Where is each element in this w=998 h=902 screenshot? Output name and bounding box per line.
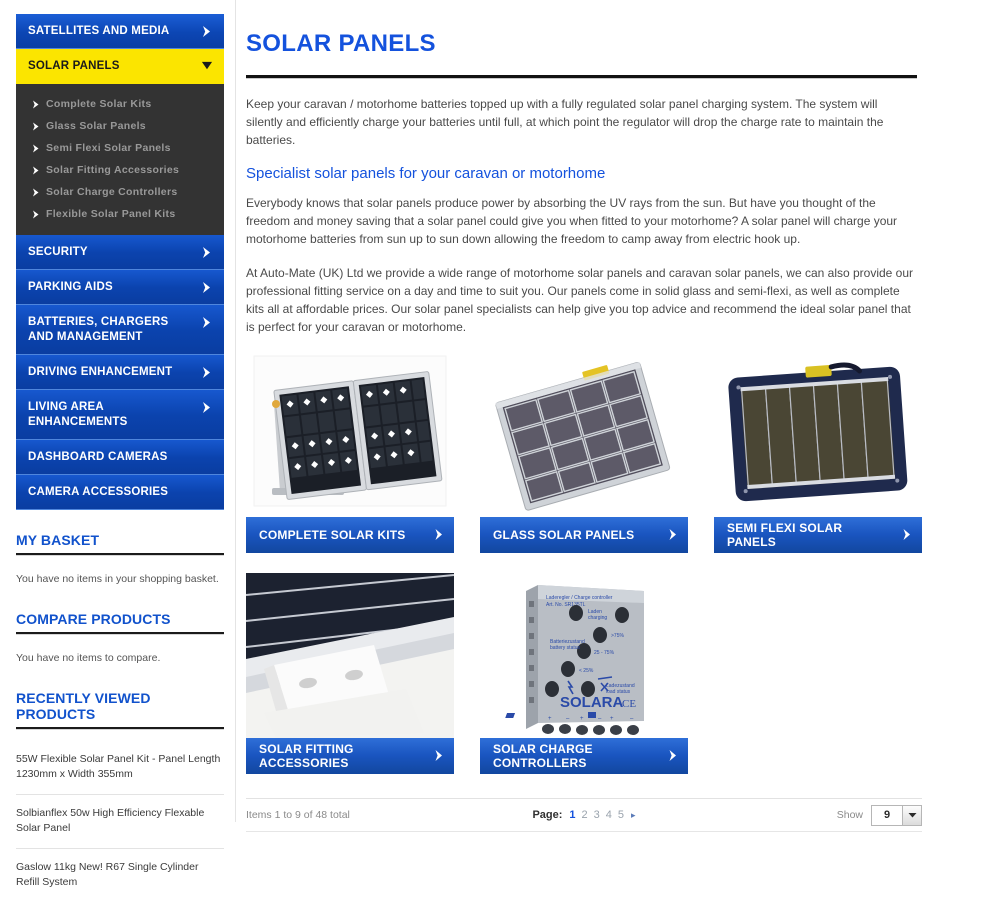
paragraph-3: At Auto-Mate (UK) Ltd we provide a wide … — [246, 264, 917, 336]
pager: Page: 1 2 3 4 5 ▸ — [532, 809, 635, 821]
pager-page-5[interactable]: 5 — [617, 809, 625, 821]
sidebar-item-driving-enhancement[interactable]: DRIVING ENHANCEMENT — [16, 355, 224, 390]
show-limiter: Show 9 — [837, 805, 922, 826]
sidebar-item-solar-panels[interactable]: SOLAR PANELS — [16, 49, 224, 84]
sidebar-item-label: DASHBOARD CAMERAS — [28, 451, 168, 463]
sidebar-item-parking-aids[interactable]: PARKING AIDS — [16, 270, 224, 305]
white-mounting-bracket-photo — [246, 573, 454, 738]
sidebar-item-label: BATTERIES, CHARGERS AND MANAGEMENT — [28, 316, 168, 343]
semi-flexible-blue-solar-panel-photo — [714, 352, 922, 517]
sidebar-item-label: SATELLITES AND MEDIA — [28, 25, 169, 37]
divider — [16, 727, 224, 730]
chevron-right-icon — [32, 209, 40, 218]
my-basket-block: MY BASKET You have no items in your shop… — [16, 532, 224, 589]
tile-label[interactable]: GLASS SOLAR PANELS — [480, 517, 688, 553]
chevron-right-icon — [668, 528, 678, 541]
submenu-item-label: Solar Charge Controllers — [46, 186, 177, 198]
submenu-item-complete-solar-kits[interactable]: Complete Solar Kits — [16, 93, 224, 115]
chevron-right-icon — [434, 528, 444, 541]
main-content: SOLAR PANELS Keep your caravan / motorho… — [236, 0, 998, 822]
sidebar-item-label: PARKING AIDS — [28, 281, 113, 293]
svg-text:>75%: >75% — [611, 633, 624, 639]
svg-text:battery status: battery status — [550, 645, 581, 651]
submenu-item-label: Semi Flexi Solar Panels — [46, 142, 171, 154]
pager-page-3[interactable]: 3 — [593, 809, 601, 821]
category-tile-solar-charge-controllers[interactable]: Laderegler / Charge controller Art. No. … — [480, 573, 688, 774]
chevron-down-icon — [201, 60, 213, 73]
compare-products-title: COMPARE PRODUCTS — [16, 611, 224, 632]
my-basket-empty-text: You have no items in your shopping baske… — [16, 572, 224, 589]
chevron-right-icon — [201, 246, 213, 259]
chevron-right-icon — [902, 528, 912, 541]
intro-paragraph: Keep your caravan / motorhome batteries … — [246, 95, 917, 149]
category-tile-semi-flexi-solar-panels[interactable]: SEMI FLEXI SOLAR PANELS — [714, 352, 922, 553]
recently-viewed-list: 55W Flexible Solar Panel Kit - Panel Len… — [16, 746, 224, 902]
submenu-item-label: Glass Solar Panels — [46, 120, 146, 132]
sidebar-item-label: CAMERA ACCESSORIES — [28, 486, 168, 498]
sidebar-item-label: DRIVING ENHANCEMENT — [28, 366, 172, 378]
chevron-right-icon — [32, 121, 40, 130]
sub-heading: Specialist solar panels for your caravan… — [246, 165, 930, 182]
recently-viewed-products-block: RECENTLY VIEWED PRODUCTS 55W Flexible So… — [16, 690, 224, 902]
chevron-right-icon — [32, 187, 40, 196]
list-item[interactable]: Solbianflex 50w High Efficiency Flexable… — [16, 795, 224, 849]
pager-label: Page: — [532, 809, 562, 821]
list-item[interactable]: 55W Flexible Solar Panel Kit - Panel Len… — [16, 746, 224, 795]
category-tile-glass-solar-panels[interactable]: GLASS SOLAR PANELS — [480, 352, 688, 553]
tile-label[interactable]: SOLAR FITTING ACCESSORIES — [246, 738, 454, 774]
title-divider — [246, 75, 917, 79]
tile-label-text: SEMI FLEXI SOLAR PANELS — [727, 521, 894, 549]
svg-text:+: + — [610, 716, 614, 722]
tile-label[interactable]: COMPLETE SOLAR KITS — [246, 517, 454, 553]
chevron-right-icon — [201, 316, 213, 329]
submenu-item-label: Solar Fitting Accessories — [46, 164, 179, 176]
solara-charge-controller-photo: Laderegler / Charge controller Art. No. … — [480, 573, 688, 738]
pagination-toolbar: Items 1 to 9 of 48 total Page: 1 2 3 4 5… — [246, 798, 922, 832]
svg-text:SOLARA: SOLARA — [560, 694, 624, 711]
sidebar-item-label: SECURITY — [28, 246, 88, 258]
page-root: SATELLITES AND MEDIA SOLAR PANELS Comple… — [0, 0, 998, 822]
submenu-item-label: Complete Solar Kits — [46, 98, 151, 110]
tile-label-text: SOLAR CHARGE CONTROLLERS — [493, 742, 660, 770]
chevron-right-icon — [201, 401, 213, 414]
svg-text:< 25%: < 25% — [579, 668, 594, 674]
folding-solar-panel-kit-photo — [246, 352, 454, 517]
item-count-label: Items 1 to 9 of 48 total — [246, 809, 350, 821]
submenu-item-solar-charge-controllers[interactable]: Solar Charge Controllers — [16, 181, 224, 203]
category-tile-complete-solar-kits[interactable]: COMPLETE SOLAR KITS — [246, 352, 454, 553]
chevron-right-icon — [201, 281, 213, 294]
per-page-select[interactable]: 9 — [871, 805, 922, 826]
chevron-right-icon — [32, 99, 40, 108]
submenu-item-solar-fitting-accessories[interactable]: Solar Fitting Accessories — [16, 159, 224, 181]
submenu-item-label: Flexible Solar Panel Kits — [46, 208, 175, 220]
submenu-item-flexible-solar-panel-kits[interactable]: Flexible Solar Panel Kits — [16, 203, 224, 225]
sidebar: SATELLITES AND MEDIA SOLAR PANELS Comple… — [0, 0, 236, 822]
compare-products-block: COMPARE PRODUCTS You have no items to co… — [16, 611, 224, 668]
chevron-right-icon — [201, 25, 213, 38]
tile-label-text: COMPLETE SOLAR KITS — [259, 528, 405, 542]
sidebar-item-batteries-chargers-and-management[interactable]: BATTERIES, CHARGERS AND MANAGEMENT — [16, 305, 224, 355]
page-title: SOLAR PANELS — [246, 30, 930, 58]
submenu-item-semi-flexi-solar-panels[interactable]: Semi Flexi Solar Panels — [16, 137, 224, 159]
category-nav: SATELLITES AND MEDIA SOLAR PANELS Comple… — [16, 14, 224, 510]
sidebar-item-label: LIVING AREA ENHANCEMENTS — [28, 401, 128, 428]
my-basket-title: MY BASKET — [16, 532, 224, 553]
chevron-right-icon — [32, 165, 40, 174]
svg-text:+: + — [548, 716, 552, 722]
svg-text:+: + — [580, 716, 584, 722]
sidebar-item-label: SOLAR PANELS — [28, 60, 120, 72]
pager-page-4[interactable]: 4 — [605, 809, 613, 821]
next-page-icon[interactable]: ▸ — [631, 810, 636, 821]
tile-label[interactable]: SOLAR CHARGE CONTROLLERS — [480, 738, 688, 774]
sidebar-item-security[interactable]: SECURITY — [16, 235, 224, 270]
sidebar-item-dashboard-cameras[interactable]: DASHBOARD CAMERAS — [16, 440, 224, 475]
tile-label-text: GLASS SOLAR PANELS — [493, 528, 634, 542]
chevron-right-icon — [668, 749, 678, 762]
paragraph-2: Everybody knows that solar panels produc… — [246, 194, 917, 248]
tile-label[interactable]: SEMI FLEXI SOLAR PANELS — [714, 517, 922, 553]
divider — [16, 632, 224, 635]
solar-panels-submenu: Complete Solar Kits Glass Solar Panels S… — [16, 84, 224, 235]
svg-text:CE: CE — [622, 698, 636, 710]
chevron-right-icon — [201, 366, 213, 379]
show-label: Show — [837, 809, 863, 821]
compare-products-empty-text: You have no items to compare. — [16, 651, 224, 668]
chevron-right-icon — [32, 143, 40, 152]
sidebar-item-living-area-enhancements[interactable]: LIVING AREA ENHANCEMENTS — [16, 390, 224, 440]
pager-page-1[interactable]: 1 — [568, 809, 576, 821]
category-tile-grid: COMPLETE SOLAR KITS — [246, 352, 922, 794]
sidebar-item-satellites-and-media[interactable]: SATELLITES AND MEDIA — [16, 14, 224, 49]
sidebar-item-camera-accessories[interactable]: CAMERA ACCESSORIES — [16, 475, 224, 510]
svg-text:Laderegler / Charge controller: Laderegler / Charge controller — [546, 595, 613, 601]
category-tile-solar-fitting-accessories[interactable]: SOLAR FITTING ACCESSORIES — [246, 573, 454, 774]
framed-glass-solar-panel-photo — [480, 352, 688, 517]
list-item[interactable]: Gaslow 11kg New! R67 Single Cylinder Ref… — [16, 849, 224, 902]
submenu-item-glass-solar-panels[interactable]: Glass Solar Panels — [16, 115, 224, 137]
pager-page-2[interactable]: 2 — [581, 809, 589, 821]
svg-text:charging: charging — [588, 615, 607, 621]
chevron-right-icon — [434, 749, 444, 762]
tile-label-text: SOLAR FITTING ACCESSORIES — [259, 742, 426, 770]
svg-text:25 - 75%: 25 - 75% — [594, 650, 615, 656]
divider — [16, 553, 224, 556]
recently-viewed-title: RECENTLY VIEWED PRODUCTS — [16, 690, 224, 727]
